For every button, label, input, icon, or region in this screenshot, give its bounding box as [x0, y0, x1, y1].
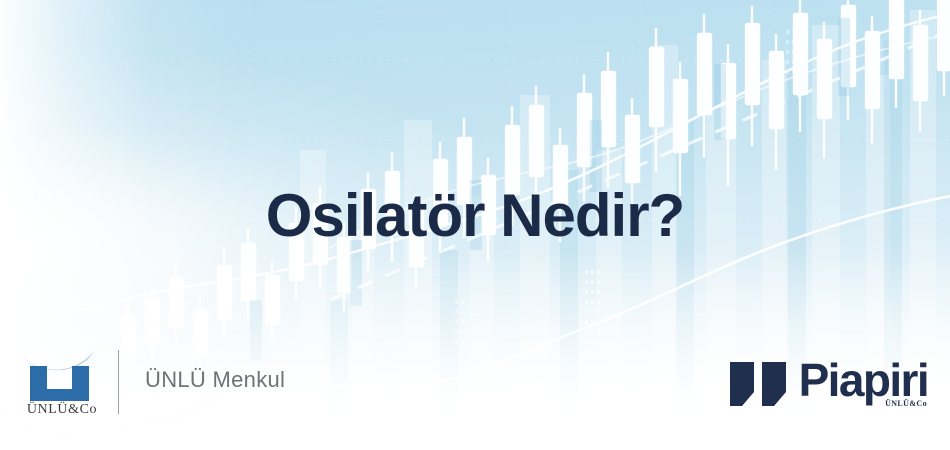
piapiri-wordmark: Piapiri — [799, 359, 928, 401]
piapiri-quote-marks-icon — [730, 362, 788, 408]
unlu-co-logo: ÜNLÜ&Co — [16, 346, 108, 418]
brand-divider — [118, 350, 119, 414]
unlu-co-caption: ÜNLÜ&Co — [16, 402, 108, 418]
piapiri-wordmark-group: Piapiri ÜNLÜ&Co — [799, 359, 928, 401]
banner: Osilatör Nedir? ÜNLÜ&Co ÜNLÜ Menkul Piap… — [0, 0, 950, 450]
piapiri-brand-lockup: Piapiri ÜNLÜ&Co — [730, 359, 928, 408]
piapiri-sub-wordmark: ÜNLÜ&Co — [885, 399, 927, 408]
unlu-menkul-label: ÜNLÜ Menkul — [145, 367, 285, 393]
page-title: Osilatör Nedir? — [0, 186, 950, 246]
unlu-brand-lockup: ÜNLÜ&Co ÜNLÜ Menkul — [16, 346, 285, 418]
